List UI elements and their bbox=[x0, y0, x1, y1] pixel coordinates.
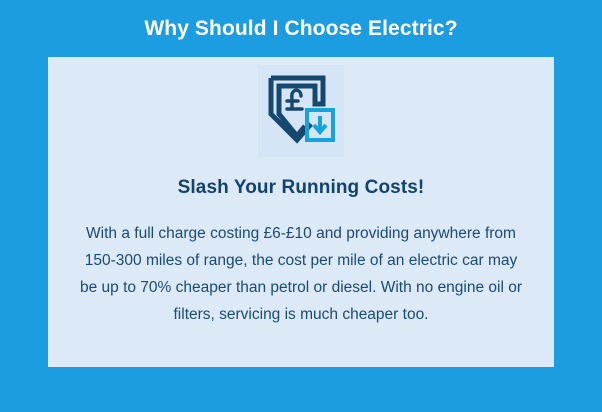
content-card: Slash Your Running Costs! With a full ch… bbox=[48, 57, 554, 367]
slide-root: Why Should I Choose Electric? Slash Your… bbox=[0, 0, 602, 412]
pound-cost-down-arrow-icon bbox=[258, 65, 344, 157]
page-title: Why Should I Choose Electric? bbox=[0, 0, 602, 41]
card-title: Slash Your Running Costs! bbox=[48, 177, 554, 199]
card-body-text: With a full charge costing £6-£10 and pr… bbox=[76, 220, 526, 329]
